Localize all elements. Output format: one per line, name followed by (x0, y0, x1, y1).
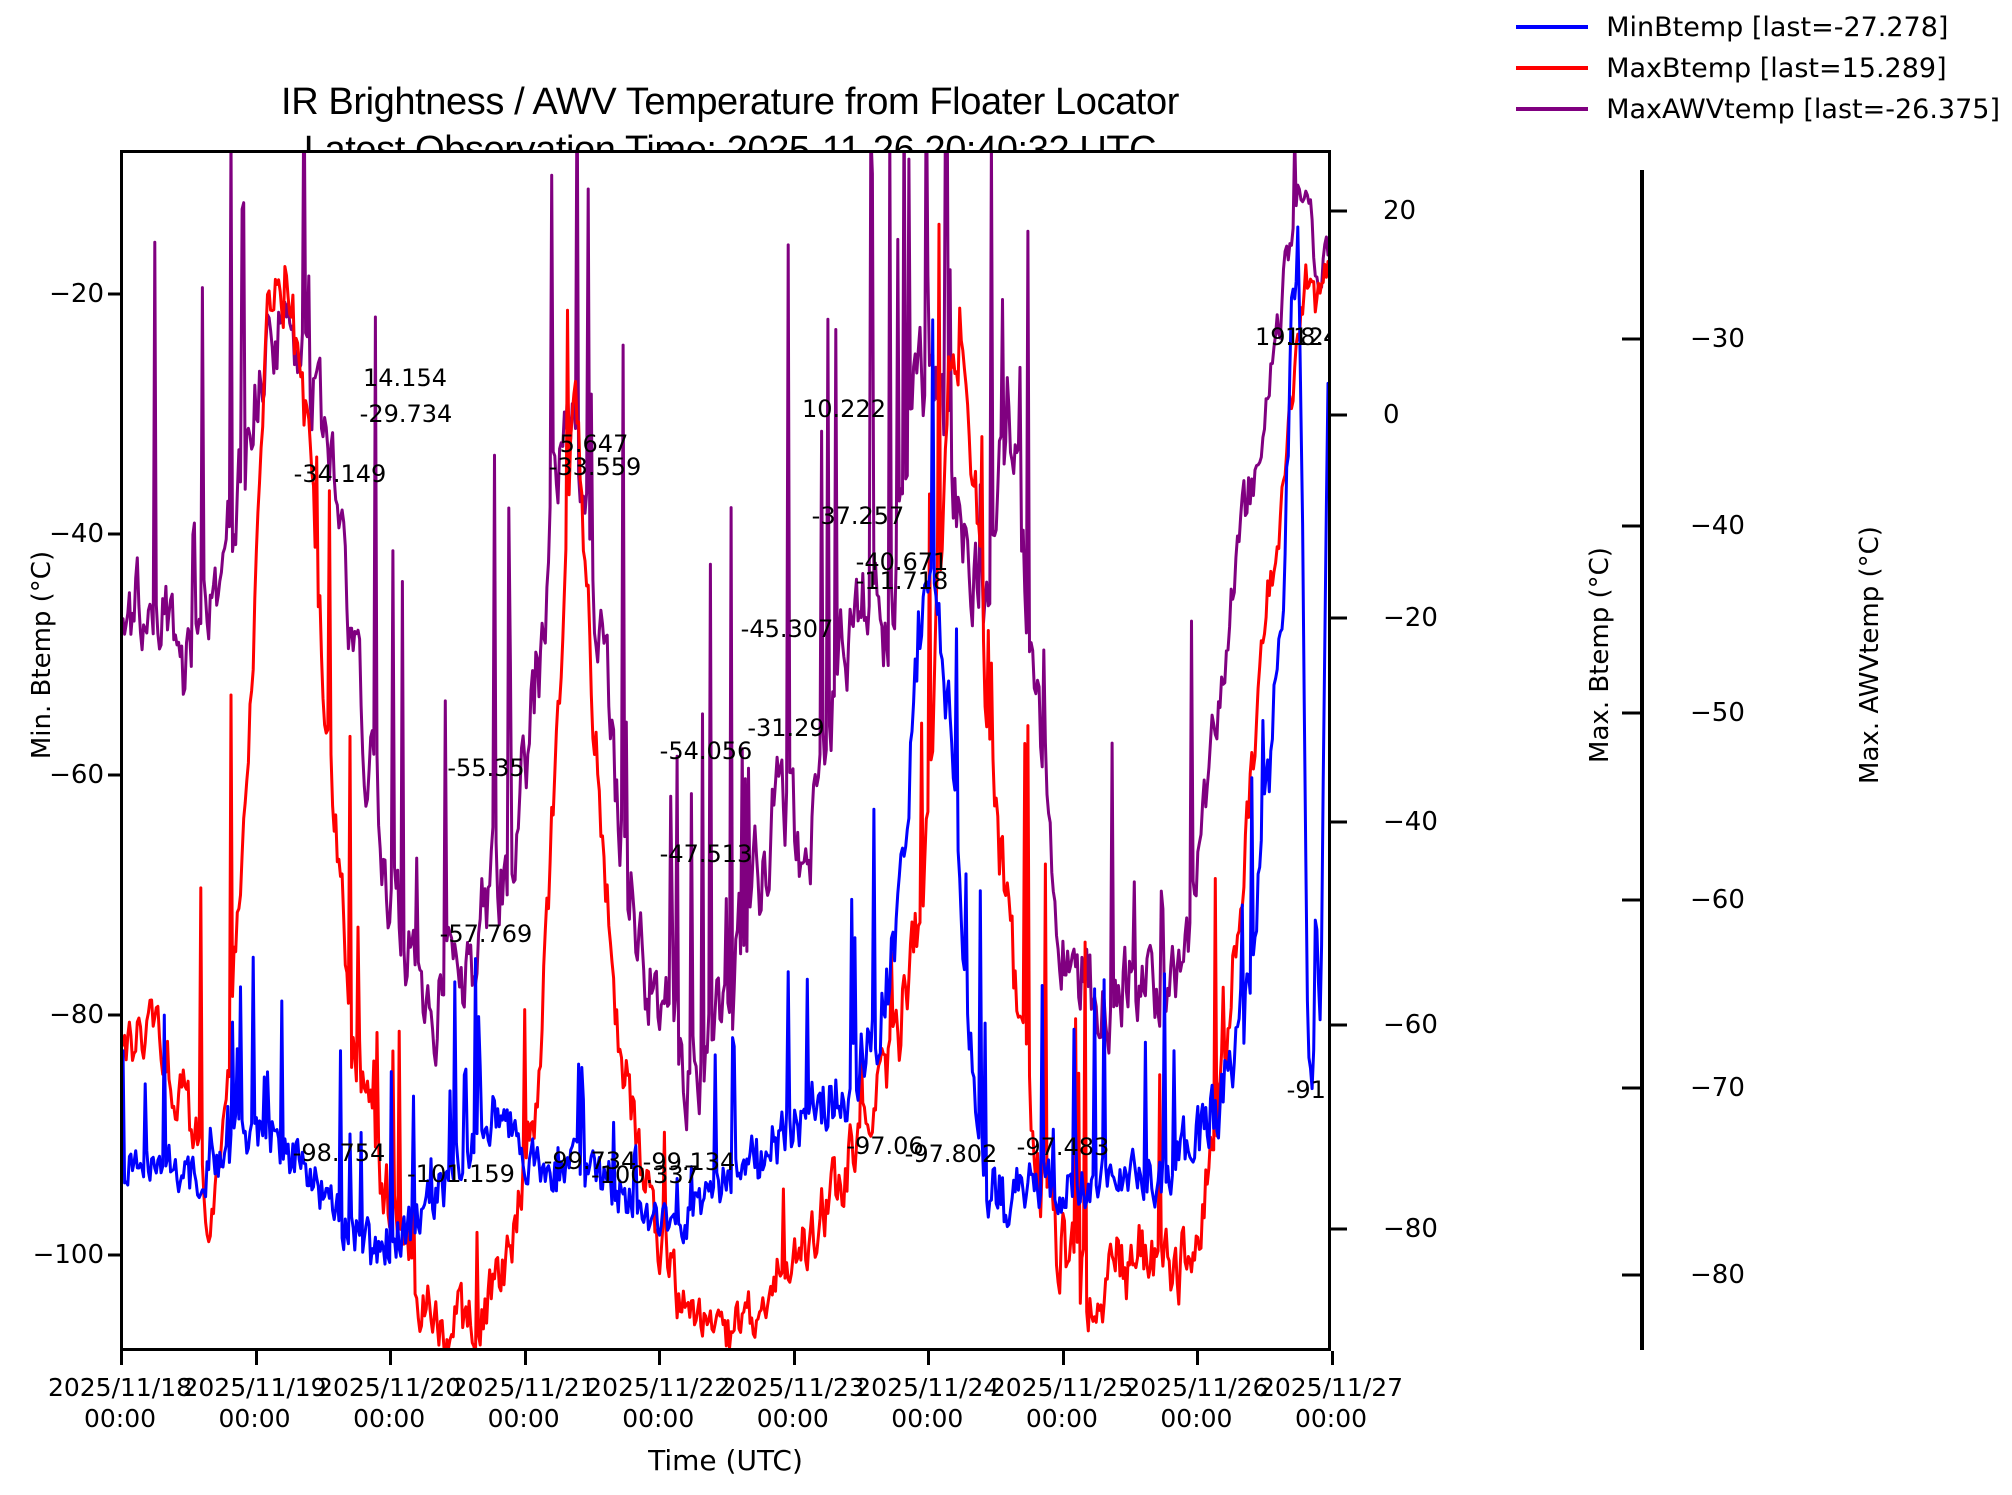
legend-item-maxbtemp[interactable]: MaxBtemp [last=15.289] (1516, 51, 2000, 85)
legend-swatch-minbtemp (1516, 25, 1588, 29)
y-tick-label-right-awv: −40 (1690, 511, 1745, 541)
y-tick-label-right-btemp: −20 (1383, 603, 1438, 633)
x-tick-mark (255, 1351, 258, 1365)
x-tick-label: 2025/11/27 00:00 (1211, 1372, 1451, 1434)
y-tick-label-left: −20 (0, 279, 104, 309)
plot-area: -34.14914.154-29.7345.647-33.559-55.35-5… (120, 150, 1331, 1351)
y-tick-mark-right-awv (1622, 1274, 1640, 1277)
y-tick-mark-right-btemp (1331, 1024, 1347, 1027)
figure-canvas: IR Brightness / AWV Temperature from Flo… (0, 0, 2012, 1495)
y-tick-mark-right-awv (1622, 1086, 1640, 1089)
x-axis-label: Time (UTC) (120, 1444, 1331, 1477)
y-tick-label-right-btemp: 20 (1383, 196, 1416, 226)
y-tick-label-right-btemp: 0 (1383, 400, 1400, 430)
y-tick-mark-right-awv (1622, 337, 1640, 340)
y-axis-right-awv-label: Max. AWVtemp (°C) (1855, 355, 1885, 955)
legend: MinBtemp [last=-27.278] MaxBtemp [last=1… (1510, 6, 2006, 130)
legend-item-minbtemp[interactable]: MinBtemp [last=-27.278] (1516, 10, 2000, 44)
y-axis-left-label: Min. Btemp (°C) (27, 355, 57, 955)
y-tick-mark-left (108, 1253, 121, 1256)
y-tick-mark-left (108, 533, 121, 536)
y-tick-mark-right-awv (1622, 712, 1640, 715)
y-tick-label-right-btemp: −60 (1383, 1010, 1438, 1040)
y-tick-mark-right-awv (1622, 524, 1640, 527)
y-tick-label-left: −100 (0, 1240, 104, 1270)
y-tick-label-right-awv: −50 (1690, 698, 1745, 728)
y-tick-mark-right-btemp (1331, 1227, 1347, 1230)
y-tick-mark-right-btemp (1331, 820, 1347, 823)
x-tick-mark (120, 1351, 123, 1365)
y-tick-label-right-btemp: −80 (1383, 1214, 1438, 1244)
legend-item-maxawvtemp[interactable]: MaxAWVtemp [last=-26.375] (1516, 92, 2000, 126)
y-tick-label-right-awv: −70 (1690, 1073, 1745, 1103)
y-tick-mark-left (108, 1013, 121, 1016)
y-tick-label-right-awv: −80 (1690, 1260, 1745, 1290)
legend-label-maxbtemp: MaxBtemp [last=15.289] (1606, 53, 1946, 84)
y-tick-label-right-awv: −30 (1690, 324, 1745, 354)
y-tick-mark-right-btemp (1331, 210, 1347, 213)
x-tick-mark (524, 1351, 527, 1365)
x-tick-mark (1062, 1351, 1065, 1365)
x-tick-mark (1196, 1351, 1199, 1365)
legend-swatch-maxawvtemp (1516, 107, 1588, 111)
x-tick-mark (389, 1351, 392, 1365)
x-tick-mark (1331, 1351, 1334, 1365)
y-tick-mark-left (108, 773, 121, 776)
y-tick-mark-right-btemp (1331, 413, 1347, 416)
y-tick-mark-right-awv (1622, 899, 1640, 902)
y-axis-right-awv-spine (1640, 170, 1644, 1350)
y-tick-mark-right-btemp (1331, 617, 1347, 620)
y-tick-label-left: −80 (0, 1000, 104, 1030)
legend-swatch-maxbtemp (1516, 66, 1588, 70)
y-tick-mark-left (108, 293, 121, 296)
y-axis-right-btemp-label: Max. Btemp (°C) (1585, 355, 1615, 955)
y-tick-label-right-btemp: −40 (1383, 807, 1438, 837)
x-tick-mark (793, 1351, 796, 1365)
legend-label-minbtemp: MinBtemp [last=-27.278] (1606, 12, 1948, 43)
x-tick-mark (927, 1351, 930, 1365)
y-tick-label-right-awv: −60 (1690, 885, 1745, 915)
series-lines (123, 153, 1328, 1348)
legend-label-maxawvtemp: MaxAWVtemp [last=-26.375] (1606, 94, 2000, 125)
x-tick-mark (658, 1351, 661, 1365)
